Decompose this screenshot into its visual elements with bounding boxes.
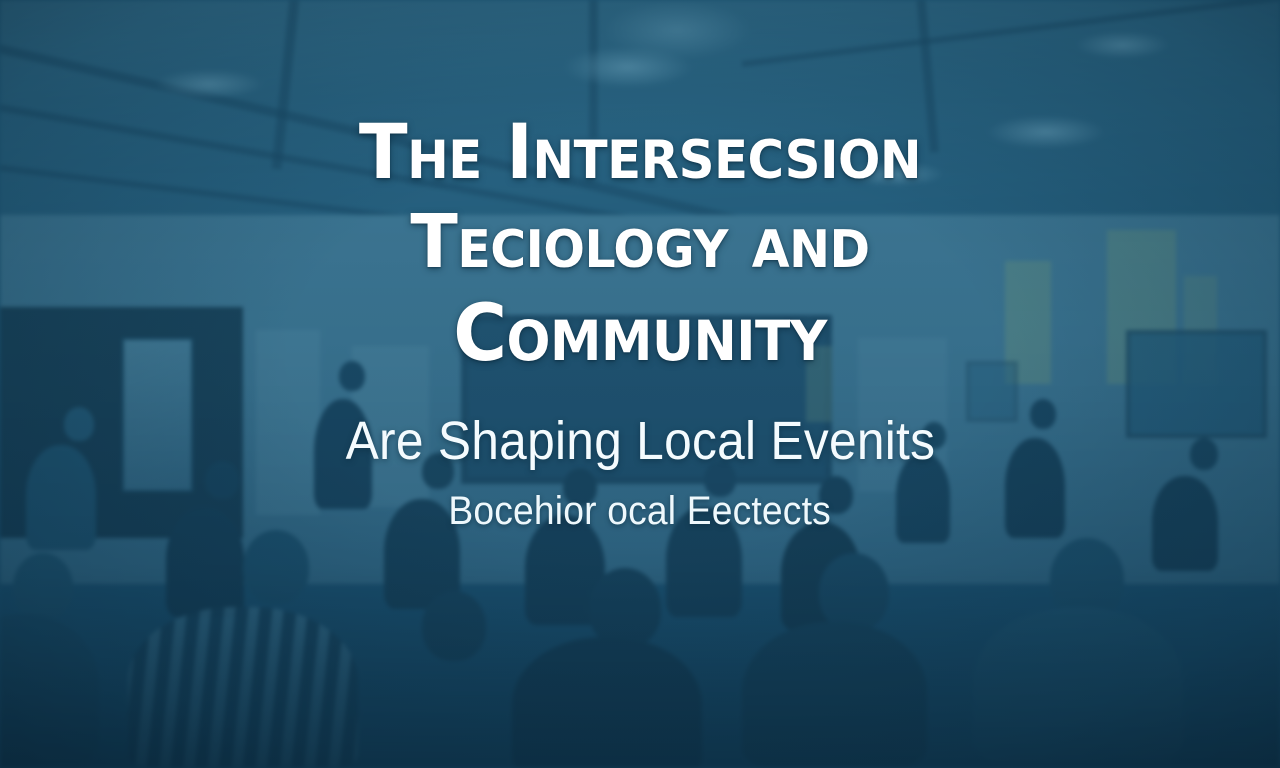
poster-tagline: Bocehior ocal Eectects: [449, 489, 831, 533]
event-poster: The Intersecsion Teciology and Community…: [0, 0, 1280, 768]
headline-line-1: The Intersecsion: [123, 106, 1157, 198]
poster-headline: The Intersecsion Teciology and Community: [123, 106, 1157, 382]
poster-subtitle: Are Shaping Local Evenits: [345, 412, 935, 471]
headline-line-3: Community: [123, 287, 1157, 381]
poster-content: The Intersecsion Teciology and Community…: [0, 0, 1280, 768]
headline-line-2: Teciology and: [123, 198, 1157, 288]
